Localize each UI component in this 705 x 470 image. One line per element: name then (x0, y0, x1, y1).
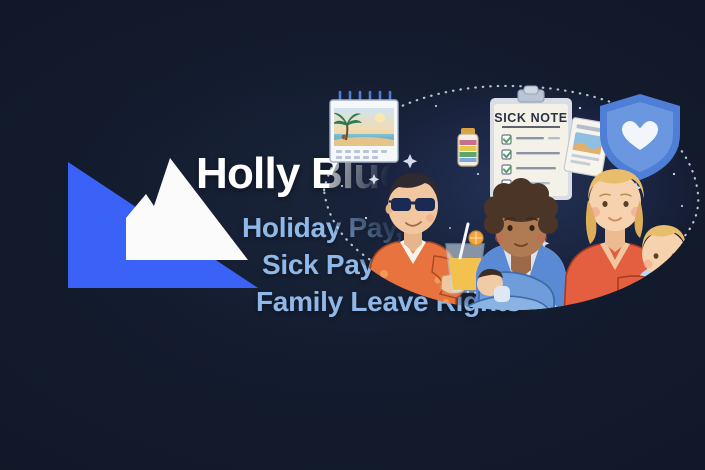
toddler (636, 225, 694, 318)
illustration-group: SICK NOTE (318, 78, 705, 318)
sick-note-title: SICK NOTE (494, 111, 567, 125)
medicine-bottle (458, 128, 478, 166)
sick-note-clipboard: SICK NOTE (490, 86, 572, 200)
wall-calendar-beach (330, 92, 398, 162)
banner-root: Holly Blue Holiday Pay, Sick Pay and Fam… (0, 0, 705, 470)
